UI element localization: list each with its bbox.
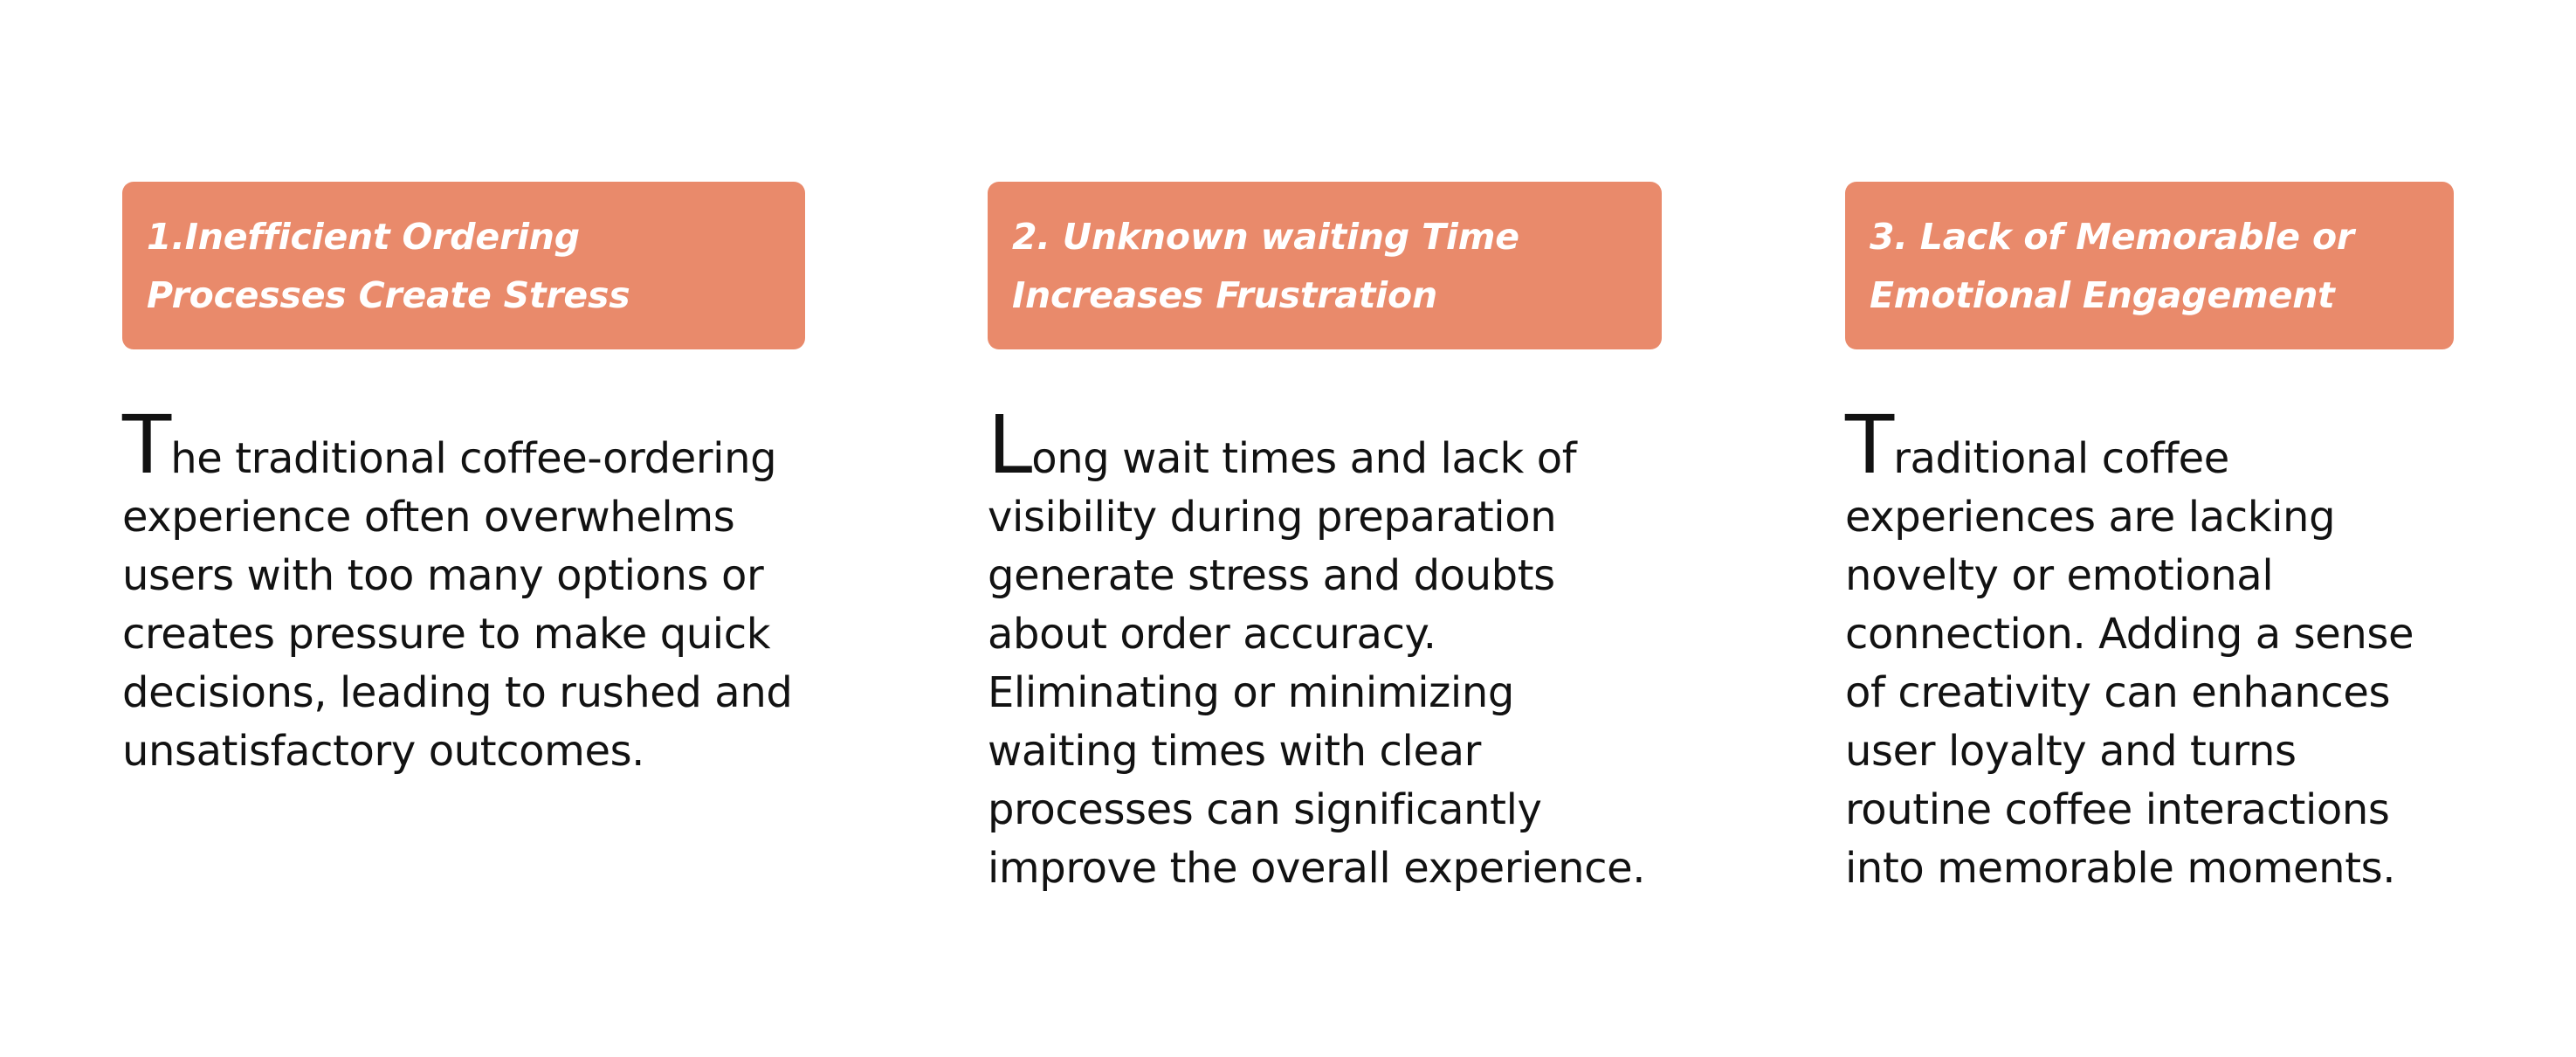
problem-body-text-1: he traditional coffee-ordering experienc… [122,434,792,776]
problem-body-block-2: Long wait times and lack of visibility d… [988,430,1662,898]
problem-body-block-3: Traditional coffee experiences are lacki… [1845,430,2454,898]
problem-body-block-1: The traditional coffee-ordering experien… [122,430,805,781]
problem-column-2: 2. Unknown waiting Time Increases Frustr… [988,182,1662,898]
problem-body-paragraph-2: Long wait times and lack of visibility d… [988,430,1662,898]
problem-headline-1: 1.Inefficient Ordering Processes Create … [147,208,781,325]
problem-headline-2: 2. Unknown waiting Time Increases Frustr… [1012,208,1637,325]
problem-body-paragraph-1: The traditional coffee-ordering experien… [122,430,805,781]
problem-body-paragraph-3: Traditional coffee experiences are lacki… [1845,430,2454,898]
slide-canvas: 1.Inefficient Ordering Processes Create … [0,0,2576,1057]
problem-headline-card-1: 1.Inefficient Ordering Processes Create … [122,182,805,349]
problem-headline-3: 3. Lack of Memorable or Emotional Engage… [1870,208,2429,325]
problem-columns-container: 1.Inefficient Ordering Processes Create … [122,182,2454,898]
problem-headline-card-3: 3. Lack of Memorable or Emotional Engage… [1845,182,2454,349]
problem-headline-card-2: 2. Unknown waiting Time Increases Frustr… [988,182,1662,349]
problem-column-3: 3. Lack of Memorable or Emotional Engage… [1845,182,2454,898]
dropcap-letter-1: T [122,398,170,492]
dropcap-letter-3: T [1845,398,1893,492]
dropcap-letter-2: L [988,398,1031,492]
problem-body-text-2: ong wait times and lack of visibility du… [988,434,1645,893]
problem-body-text-3: raditional coffee experiences are lackin… [1845,434,2414,893]
problem-column-1: 1.Inefficient Ordering Processes Create … [122,182,805,781]
